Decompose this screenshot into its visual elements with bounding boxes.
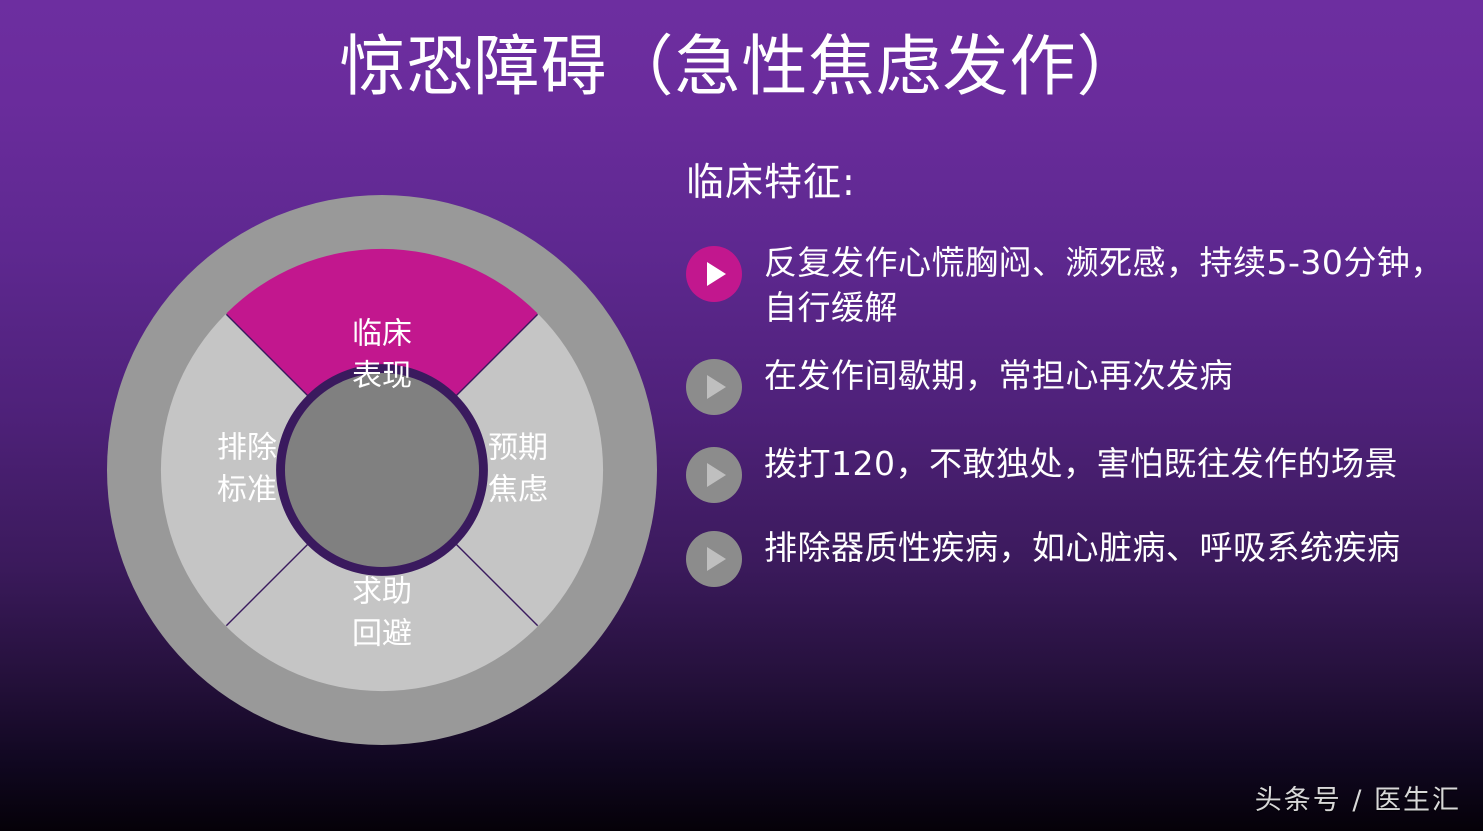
feature-item[interactable]: 排除器质性疾病，如心脏病、呼吸系统疾病 <box>686 525 1446 587</box>
segment-anticipatory-label-line1: 预期 <box>488 431 548 466</box>
diagram-hub <box>285 373 479 567</box>
features-panel: 临床特征: 反复发作心慌胸闷、濒死感，持续5-30分钟，自行缓解 在发作间歇期，… <box>686 160 1446 609</box>
segment-helpseeking-label-line2: 回避 <box>352 617 412 652</box>
play-icon <box>686 359 742 415</box>
features-heading: 临床特征: <box>686 160 1446 206</box>
watermark: 头条号 / 医生汇 <box>1255 778 1461 817</box>
feature-item-text: 排除器质性疾病，如心脏病、呼吸系统疾病 <box>764 525 1401 571</box>
play-icon <box>686 246 742 302</box>
feature-item[interactable]: 在发作间歇期，常担心再次发病 <box>686 353 1446 415</box>
slide-canvas: 惊恐障碍（急性焦虑发作） 临床 表现 预期 焦虑 求助 <box>0 0 1483 831</box>
segment-helpseeking-label-line1: 求助 <box>352 575 412 610</box>
cycle-diagram-svg: 临床 表现 预期 焦虑 求助 回避 排除 标准 <box>107 195 657 745</box>
feature-item-text: 反复发作心慌胸闷、濒死感，持续5-30分钟，自行缓解 <box>764 240 1444 331</box>
play-icon <box>686 447 742 503</box>
segment-anticipatory-label-line2: 焦虑 <box>488 473 548 508</box>
segment-exclusion-label-line2: 标准 <box>217 473 277 508</box>
cycle-diagram: 临床 表现 预期 焦虑 求助 回避 排除 标准 <box>107 195 657 745</box>
feature-item-text: 在发作间歇期，常担心再次发病 <box>764 353 1233 399</box>
page-title: 惊恐障碍（急性焦虑发作） <box>0 30 1483 104</box>
segment-exclusion-label-line1: 排除 <box>217 431 277 466</box>
feature-item[interactable]: 反复发作心慌胸闷、濒死感，持续5-30分钟，自行缓解 <box>686 240 1446 331</box>
play-icon <box>686 531 742 587</box>
segment-clinical-label-line1: 临床 <box>352 317 412 352</box>
feature-item-text: 拨打120，不敢独处，害怕既往发作的场景 <box>764 441 1398 487</box>
segment-clinical-label-line2: 表现 <box>352 359 412 394</box>
feature-item[interactable]: 拨打120，不敢独处，害怕既往发作的场景 <box>686 441 1446 503</box>
